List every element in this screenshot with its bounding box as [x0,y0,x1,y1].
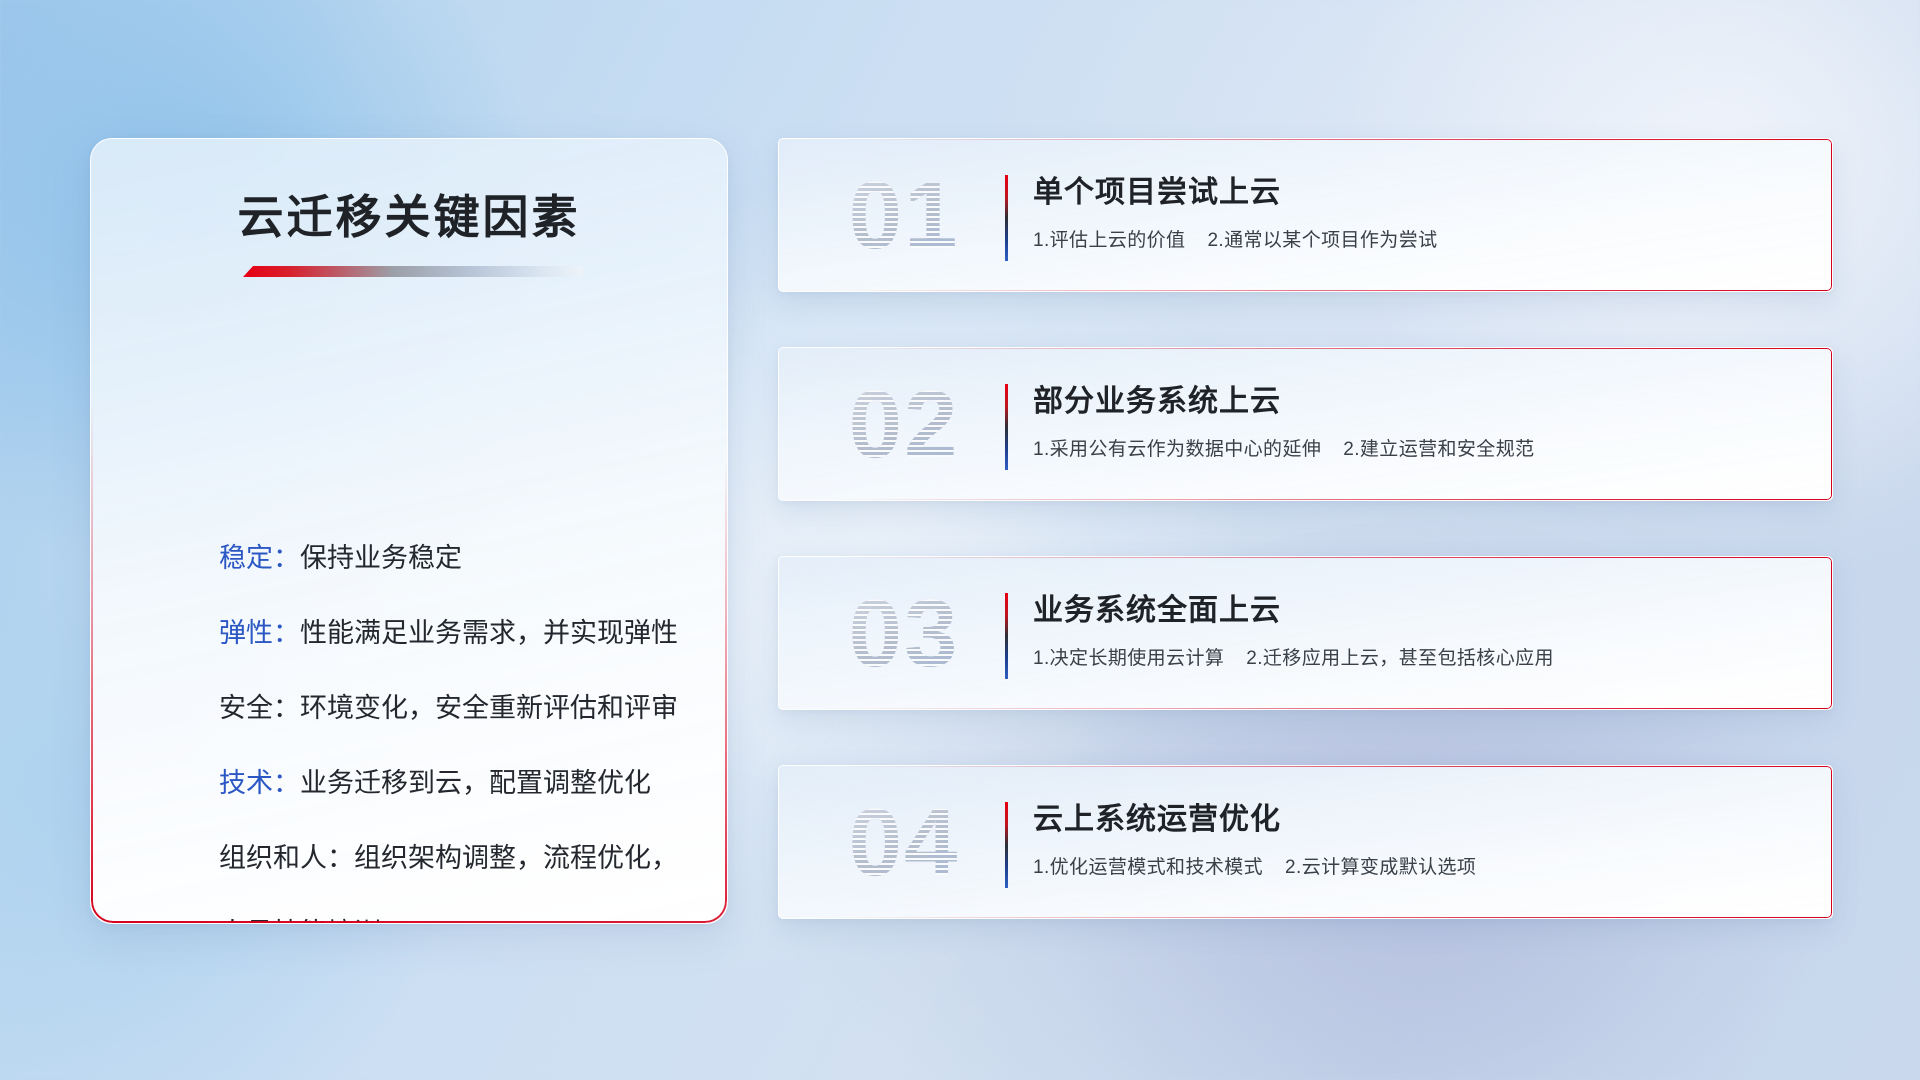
stage-point-1: 1.优化运营模式和技术模式 [1033,857,1263,878]
stage-point-2: 2.云计算变成默认选项 [1285,857,1476,878]
stage-body: 云上系统运营优化 1.优化运营模式和技术模式2.云计算变成默认选项 [1033,794,1808,879]
stage-number: 02 [819,360,989,490]
stage-body: 单个项目尝试上云 1.评估上云的价值2.通常以某个项目作为尝试 [1033,167,1808,252]
list-item: 稳定：保持业务稳定 [219,521,687,596]
stage-point-1: 1.决定长期使用云计算 [1033,648,1224,669]
factor-text: 保持业务稳定 [300,543,462,573]
stage-point-2: 2.通常以某个项目作为尝试 [1207,230,1437,251]
stage-point-2: 2.迁移应用上云，甚至包括核心应用 [1246,648,1554,669]
stage-title: 业务系统全面上云 [1033,585,1808,629]
factor-key: 技术： [219,768,300,798]
stage-points: 1.评估上云的价值2.通常以某个项目作为尝试 [1033,225,1808,252]
stage-card[interactable]: 03 业务系统全面上云 1.决定长期使用云计算2.迁移应用上云，甚至包括核心应用 [778,556,1833,710]
page-title: 云迁移关键因素 [91,181,727,247]
factor-text: 性能满足业务需求，并实现弹性 [300,618,678,648]
stage-number: 04 [819,778,989,908]
stage-card[interactable]: 01 单个项目尝试上云 1.评估上云的价值2.通常以某个项目作为尝试 [778,138,1833,292]
stage-title: 部分业务系统上云 [1033,376,1808,420]
stage-body: 业务系统全面上云 1.决定长期使用云计算2.迁移应用上云，甚至包括核心应用 [1033,585,1808,670]
stage-card[interactable]: 04 云上系统运营优化 1.优化运营模式和技术模式2.云计算变成默认选项 [778,765,1833,919]
stage-number: 03 [819,569,989,699]
title-underline-accent [243,266,583,277]
factor-text: 环境变化，安全重新评估和评审 [300,693,678,723]
stage-number: 01 [819,151,989,281]
factor-text: 业务迁移到云，配置调整优化 [300,768,651,798]
stage-title: 单个项目尝试上云 [1033,167,1808,211]
factor-text: 组织架构调整，流程优化， [354,843,678,873]
factor-text: 人员技能培训 [219,918,381,924]
list-item: 弹性：性能满足业务需求，并实现弹性 [219,596,687,671]
stage-accent-bar [1005,175,1008,261]
stage-point-2: 2.建立运营和安全规范 [1343,439,1534,460]
migration-stages-list: 01 单个项目尝试上云 1.评估上云的价值2.通常以某个项目作为尝试 02 部分… [778,138,1833,974]
stage-accent-bar [1005,384,1008,470]
stage-card[interactable]: 02 部分业务系统上云 1.采用公有云作为数据中心的延伸2.建立运营和安全规范 [778,347,1833,501]
stage-accent-bar [1005,802,1008,888]
stage-points: 1.决定长期使用云计算2.迁移应用上云，甚至包括核心应用 [1033,643,1808,670]
factor-key: 安全： [219,693,300,723]
stage-title: 云上系统运营优化 [1033,794,1808,838]
slide-root: { "theme": { "accent_red": "#e60012", "a… [0,0,1920,1080]
stage-points: 1.优化运营模式和技术模式2.云计算变成默认选项 [1033,852,1808,879]
list-item: 技术：业务迁移到云，配置调整优化 [219,746,687,821]
key-factors-list: 稳定：保持业务稳定 弹性：性能满足业务需求，并实现弹性 安全：环境变化，安全重新… [219,521,687,924]
stage-points: 1.采用公有云作为数据中心的延伸2.建立运营和安全规范 [1033,434,1808,461]
list-item: 组织和人：组织架构调整，流程优化， [219,821,687,896]
key-factors-panel: 云迁移关键因素 稳定：保持业务稳定 弹性：性能满足业务需求，并实现弹性 安全：环… [90,138,728,924]
factor-key: 稳定： [219,543,300,573]
factor-key: 弹性： [219,618,300,648]
list-item: 安全：环境变化，安全重新评估和评审 [219,671,687,746]
stage-body: 部分业务系统上云 1.采用公有云作为数据中心的延伸2.建立运营和安全规范 [1033,376,1808,461]
factor-key: 组织和人： [219,843,354,873]
stage-point-1: 1.评估上云的价值 [1033,230,1185,251]
stage-point-1: 1.采用公有云作为数据中心的延伸 [1033,439,1321,460]
stage-accent-bar [1005,593,1008,679]
list-item-continuation: 人员技能培训 [219,896,687,924]
